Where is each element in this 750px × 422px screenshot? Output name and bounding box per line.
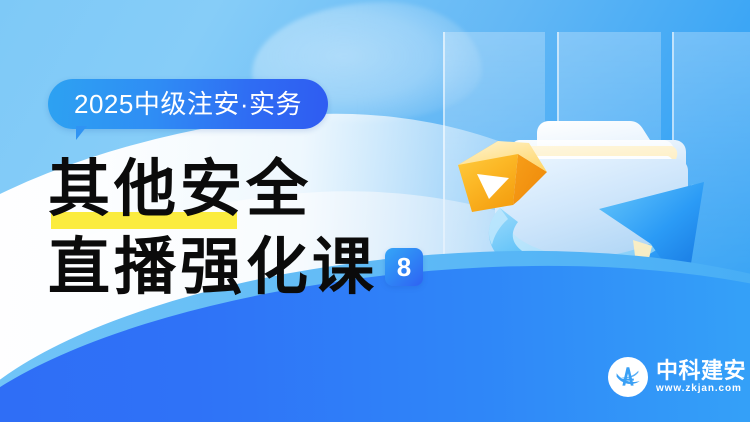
course-promo-banner: 2025中级注安·实务 其他安全 直播强化课 8 中科建安 (0, 0, 750, 422)
headline-block: 其他安全 直播强化课 8 (48, 150, 423, 306)
headline-line-1: 其他安全 (48, 150, 423, 228)
logo-text-group: 中科建安 www.zkjan.com (656, 359, 746, 395)
zkjan-circle-logo-icon (608, 357, 648, 397)
episode-number-badge: 8 (385, 248, 423, 286)
logo-mark-svg (611, 360, 645, 394)
brand-logo: 中科建安 www.zkjan.com (608, 357, 746, 397)
episode-number-label: 8 (397, 254, 411, 280)
headline-text-primary: 其他安全 (48, 150, 312, 228)
badge-tail (76, 126, 87, 140)
brand-name-label: 中科建安 (656, 359, 746, 382)
headline-text-secondary: 直播强化课 (48, 228, 378, 306)
course-category-badge: 2025中级注安·实务 (48, 79, 328, 129)
course-category-label: 2025中级注安·实务 (74, 91, 302, 117)
headline-line-2: 直播强化课 8 (48, 228, 423, 306)
brand-url-label: www.zkjan.com (656, 382, 746, 395)
